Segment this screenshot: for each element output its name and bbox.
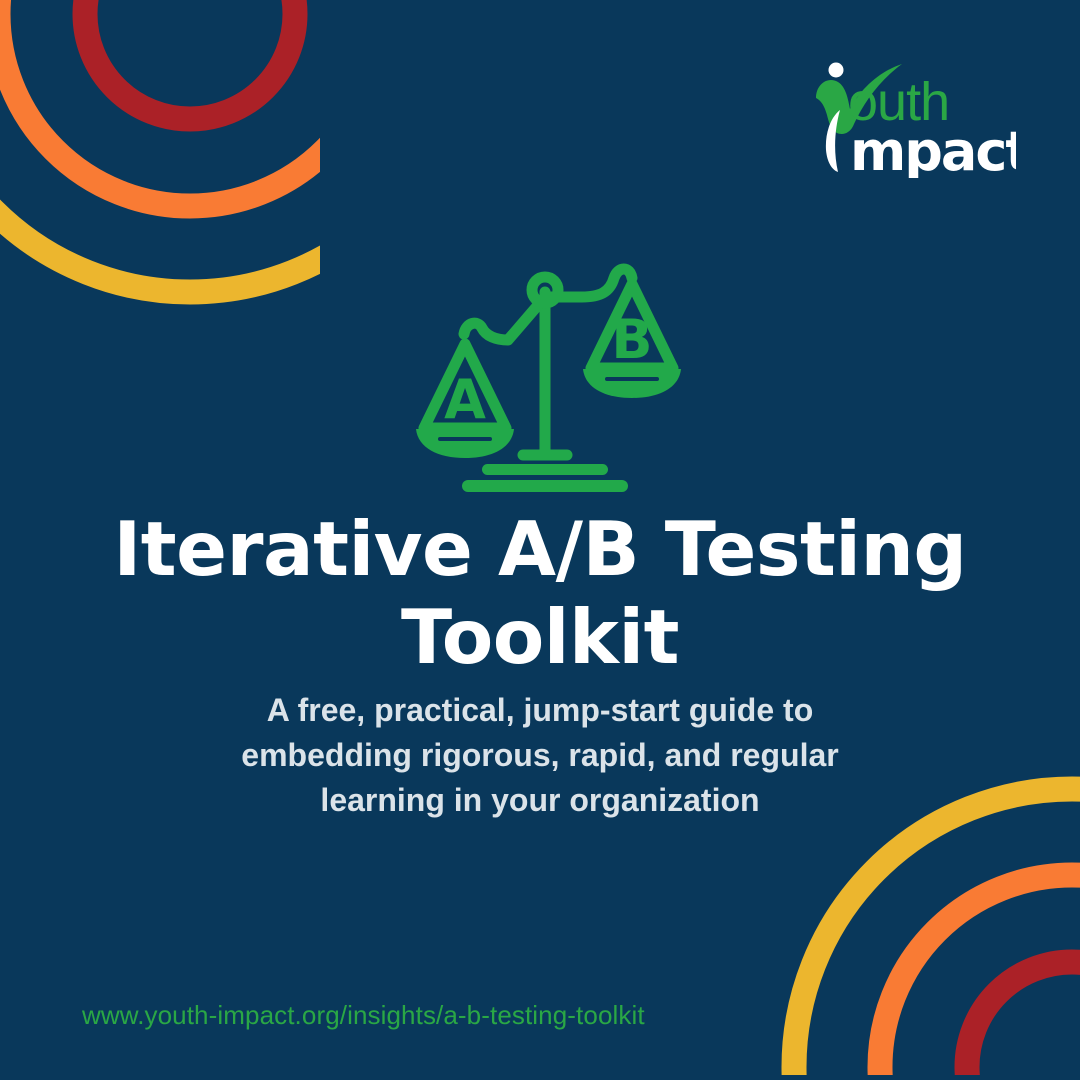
poster-canvas: outh mpact <box>0 0 1080 1080</box>
scales-dish-right <box>583 369 681 398</box>
ring-middle-orange <box>0 0 320 206</box>
scales-label-a: A <box>444 368 486 431</box>
scales-dish-left <box>416 429 514 458</box>
page-title: Iterative A/B Testing Toolkit <box>90 505 990 681</box>
ring-outer-yellow <box>0 0 320 292</box>
page-subtitle-line-3: learning in your organization <box>150 778 930 823</box>
ring-outer-yellow <box>794 789 1080 1075</box>
page-title-line-2: Toolkit <box>90 593 990 681</box>
page-title-line-1: Iterative A/B Testing <box>113 505 966 593</box>
ring-inner-red <box>85 0 295 119</box>
page-subtitle-line-2: embedding rigorous, rapid, and regular <box>150 733 930 778</box>
ring-inner-red <box>967 962 1080 1075</box>
scales-base-upper <box>482 464 608 475</box>
page-subtitle-line-1: A free, practical, jump-start guide to <box>150 688 930 733</box>
footer-url-link[interactable]: www.youth-impact.org/insights/a-b-testin… <box>82 1000 645 1031</box>
page-subtitle: A free, practical, jump-start guide to e… <box>150 688 930 823</box>
ring-middle-orange <box>880 875 1080 1075</box>
youth-impact-logo[interactable]: outh mpact <box>806 62 1016 178</box>
scales-label-b: B <box>611 308 652 371</box>
scales-base-lower <box>462 480 628 492</box>
logo-word-impact: mpact <box>850 120 1016 178</box>
balance-scales-ab-icon: A B <box>404 252 688 496</box>
logo-head-dot-icon <box>829 63 844 78</box>
concentric-rings-top-left <box>0 0 320 325</box>
